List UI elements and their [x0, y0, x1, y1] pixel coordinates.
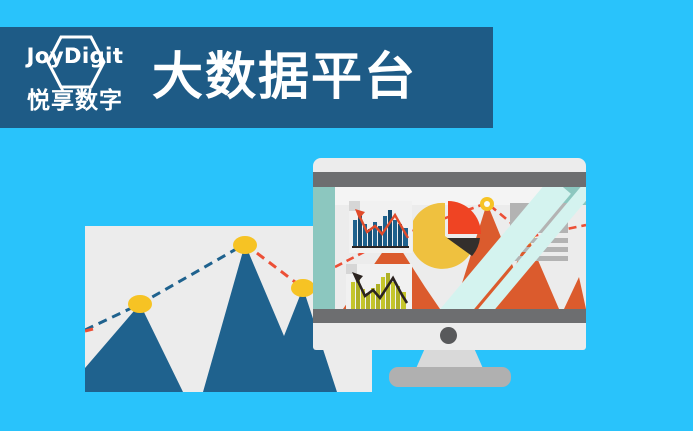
pie-chart-svg [413, 199, 483, 271]
pie-chart[interactable] [413, 199, 483, 271]
placeholder-text-block [510, 203, 568, 265]
placeholder-line [510, 247, 568, 252]
trend-line-blue-dashed [85, 244, 245, 330]
pie-slice-red [448, 201, 481, 234]
trend-line-red-tip-left [85, 329, 93, 331]
monitor-stand-base [389, 367, 511, 387]
page-title: 大数据平台 [152, 52, 417, 103]
placeholder-line [510, 256, 568, 261]
brand-logo-latin: JoyDigit [14, 46, 136, 67]
screen-accent-band-left [313, 187, 335, 309]
poster-canvas: JoyDigit 悦享数字 大数据平台 [0, 0, 693, 431]
desktop-monitor [313, 158, 586, 350]
brand-logo-chinese: 悦享数字 [14, 90, 136, 113]
bar-line-card-olive-svg [346, 264, 412, 309]
monitor-screen [313, 187, 586, 309]
monitor-stand-neck [414, 348, 485, 373]
brand-logo: JoyDigit 悦享数字 [14, 32, 136, 124]
bar-line-card-olive[interactable] [346, 264, 412, 309]
monitor-bezel-top [313, 172, 586, 187]
placeholder-block-large [510, 203, 568, 233]
bar-line-card-blue[interactable] [349, 201, 412, 253]
placeholder-line [510, 238, 568, 243]
card-axis-line [352, 246, 409, 248]
bar-line-card-blue-svg [349, 201, 412, 253]
monitor-bezel-bottom [313, 309, 586, 323]
header-banner: JoyDigit 悦享数字 大数据平台 [0, 27, 493, 128]
power-button[interactable] [440, 327, 457, 344]
